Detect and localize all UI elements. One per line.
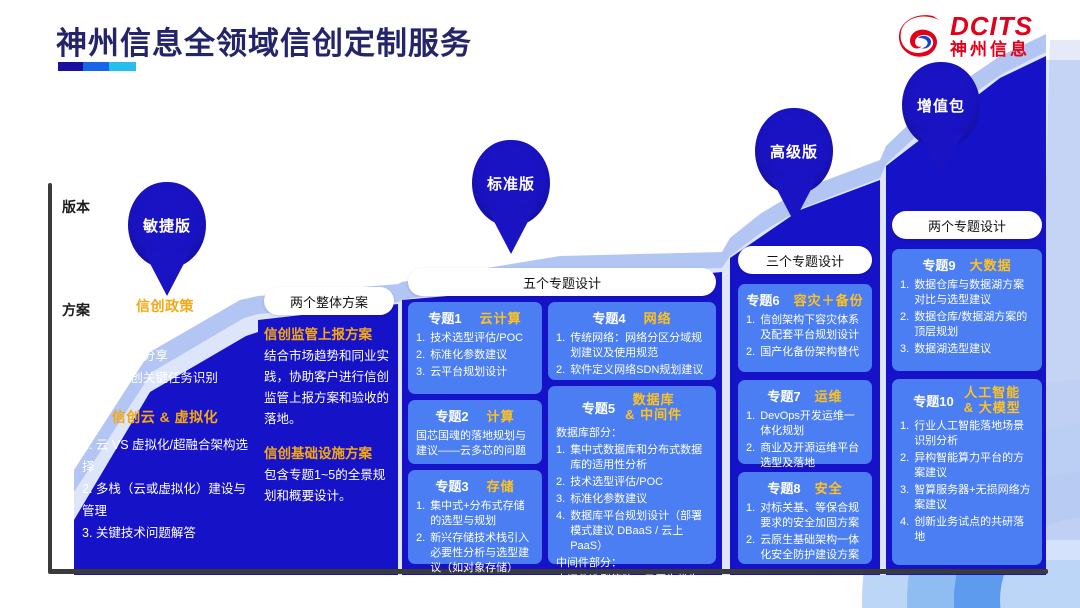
- list-item: 1.DevOps开发运维一体化规划: [746, 409, 864, 439]
- axis-horizontal: [48, 569, 1048, 574]
- list-item: 1.信创架构下容灾体系及配套平台规划设计: [746, 313, 864, 343]
- topic-subheading: 中间件部分：: [556, 556, 708, 571]
- list-item: 2.异构智能算力平台的方案建议: [900, 451, 1034, 481]
- pill-three-topics: 三个专题设计: [738, 246, 872, 274]
- list-item: 2.国产化备份架构替代: [746, 345, 864, 360]
- topic-card-5[interactable]: 专题5 数据库 & 中间件 数据库部分： 1.集中式数据库和分布式数据库的适用性…: [548, 386, 716, 564]
- topic-tag: 大数据: [970, 255, 1012, 274]
- list-item: 2.标准化参数建议: [416, 348, 534, 363]
- logo-wordmark: DCITS: [950, 12, 1033, 40]
- pill-two-topics: 两个专题设计: [892, 211, 1042, 239]
- list-item: 2.技术选型评估/POC: [556, 475, 708, 490]
- topic-number: 专题1: [428, 308, 461, 327]
- list-item: 2.新兴存储技术栈引入必要性分析与选型建议（如对象存储）: [416, 531, 534, 576]
- topic-tag: 数据库 & 中间件: [625, 392, 682, 422]
- topic-number: 专题7: [767, 386, 800, 405]
- list-item: 1. 政策解读: [104, 323, 256, 345]
- topic-card-10[interactable]: 专题10 人工智能 & 大模型 1.行业人工智能落地场景识别分析 2.异构智能算…: [892, 379, 1042, 565]
- topic-card-1[interactable]: 专题1 云计算 1.技术选型评估/POC 2.标准化参数建议 3.云平台规划设计: [408, 302, 542, 394]
- list-item: 3.智算服务器+无损网络方案建议: [900, 483, 1034, 513]
- agile-policy-list: 1. 政策解读 2. 同业分享 3. 信创关键任务识别: [74, 323, 256, 389]
- topic-card-4[interactable]: 专题4 网络 1.传统网络：网络分区分域规划建议及使用规范 2.软件定义网络SD…: [548, 302, 716, 380]
- topic-tag: 容灾＋备份: [794, 290, 864, 309]
- topic-card-6[interactable]: 专题6 容灾＋备份 1.信创架构下容灾体系及配套平台规划设计 2.国产化备份架构…: [738, 284, 872, 372]
- axis-label-version: 版本: [62, 197, 90, 217]
- topic-tag: 运维: [815, 386, 843, 405]
- section-heading: 信创政策: [74, 296, 256, 316]
- column-standard-plans: 信创监管上报方案 结合市场趋势和同业实践，协助客户进行信创监管上报方案和验收的落…: [264, 323, 396, 507]
- list-item: 1.技术选型评估/POC: [416, 331, 534, 346]
- topic-tag: 云计算: [480, 308, 522, 327]
- dcits-swirl-logo-icon: [898, 14, 946, 60]
- plan-heading: 信创监管上报方案: [264, 323, 396, 343]
- list-item: 4.创新业务试点的共研落地: [900, 515, 1034, 545]
- topic-tag: 网络: [644, 308, 672, 327]
- list-item: 4.数据库平台规划设计（部署模式建议 DBaaS / 云上PaaS）: [556, 509, 708, 554]
- pin-agile[interactable]: 敏捷版: [128, 182, 206, 296]
- list-item: 3. 信创关键任务识别: [104, 367, 256, 389]
- topic-number: 专题2: [435, 406, 468, 425]
- list-item: 1.传统网络：网络分区分域规划建议及使用规范: [556, 331, 708, 361]
- topic-number: 专题10: [913, 391, 953, 410]
- topic-number: 专题9: [922, 255, 955, 274]
- list-item: 1.集中式数据库和分布式数据库的适用性分析: [556, 443, 708, 473]
- column-agile: 信创政策 1. 政策解读 2. 同业分享 3. 信创关键任务识别 信创云 & 虚…: [74, 296, 256, 544]
- topic-number: 专题8: [767, 478, 800, 497]
- topic-tag: 人工智能 & 大模型: [964, 385, 1021, 415]
- list-item: 2.数据仓库/数据湖方案的顶层规划: [900, 310, 1034, 340]
- list-item: 3.云平台规划设计: [416, 365, 534, 380]
- pin-label: 增值包: [917, 95, 965, 116]
- list-item: 3. 关键技术问题解答: [82, 522, 256, 544]
- topic-number: 专题6: [746, 290, 779, 309]
- topic-tag: 安全: [815, 478, 843, 497]
- topic-number: 专题3: [435, 476, 468, 495]
- pin-standard[interactable]: 标准版: [472, 140, 550, 254]
- topic-card-2[interactable]: 专题2 计算 国芯国魂的落地规划与建议——云多芯的问题: [408, 400, 542, 464]
- pin-label: 高级版: [770, 141, 818, 162]
- list-item: 3.标准化参数建议: [556, 492, 708, 507]
- topic-tag: 存储: [487, 476, 515, 495]
- section-heading: 信创云 & 虚拟化: [74, 407, 256, 427]
- topic-body: 中间件选型策略：云原生优先+传统信创中间件+开源管理: [556, 573, 708, 603]
- title-underline: [58, 62, 136, 71]
- axis-vertical: [48, 183, 52, 573]
- pin-value-pack[interactable]: 增值包: [902, 62, 980, 176]
- topic-body: 国芯国魂的落地规划与建议——云多芯的问题: [416, 429, 534, 459]
- topic-card-3[interactable]: 专题3 存储 1.集中式+分布式存储的选型与规划 2.新兴存储技术栈引入必要性分…: [408, 470, 542, 564]
- page-title: 神州信息全领域信创定制服务: [56, 18, 472, 63]
- list-item: 1.数据仓库与数据湖方案对比与选型建议: [900, 278, 1034, 308]
- agile-cloud-list: 1. 云 VS 虚拟化/超融合架构选择 2. 多栈（云或虚拟化）建设与管理 3.…: [74, 434, 256, 544]
- plan-body: 结合市场趋势和同业实践，协助客户进行信创监管上报方案和验收的落地。: [264, 346, 396, 430]
- list-item: 1. 云 VS 虚拟化/超融合架构选择: [82, 434, 256, 478]
- topic-tag: 计算: [487, 406, 515, 425]
- topic-card-9[interactable]: 专题9 大数据 1.数据仓库与数据湖方案对比与选型建议 2.数据仓库/数据湖方案…: [892, 249, 1042, 371]
- list-item: 2.软件定义网络SDN规划建议: [556, 363, 708, 378]
- pill-five-topics: 五个专题设计: [408, 268, 716, 296]
- topic-subheading: 数据库部分：: [556, 426, 708, 441]
- list-item: 1.集中式+分布式存储的选型与规划: [416, 499, 534, 529]
- logo-wordmark-cn: 神州信息: [950, 40, 1033, 60]
- topic-card-7[interactable]: 专题7 运维 1.DevOps开发运维一体化规划 2.商业及开源运维平台选型及落…: [738, 380, 872, 464]
- list-item: 1.行业人工智能落地场景识别分析: [900, 419, 1034, 449]
- list-item: 2. 同业分享: [104, 345, 256, 367]
- pin-label: 敏捷版: [143, 215, 191, 236]
- slide-canvas: 神州信息全领域信创定制服务 DCITS 神州信息 版本 方案 敏捷版 标准版 高…: [0, 0, 1080, 608]
- pin-label: 标准版: [487, 173, 535, 194]
- topic-card-8[interactable]: 专题8 安全 1.对标关基、等保合规要求的安全加固方案 2.云原生基础架构一体化…: [738, 472, 872, 564]
- list-item: 2.商业及开源运维平台选型及落地: [746, 441, 864, 471]
- plan-body: 包含专题1~5的全景规划和概要设计。: [264, 465, 396, 507]
- topic-number: 专题4: [592, 308, 625, 327]
- list-item: 2.云原生基础架构一体化安全防护建设方案: [746, 533, 864, 563]
- list-item: 1.对标关基、等保合规要求的安全加固方案: [746, 501, 864, 531]
- list-item: 2. 多栈（云或虚拟化）建设与管理: [82, 478, 256, 522]
- plan-heading: 信创基础设施方案: [264, 442, 396, 462]
- topic-number: 专题5: [582, 398, 615, 417]
- pin-advanced[interactable]: 高级版: [755, 108, 833, 222]
- list-item: 3.数据湖选型建议: [900, 342, 1034, 357]
- pill-two-overall-plans: 两个整体方案: [264, 287, 394, 315]
